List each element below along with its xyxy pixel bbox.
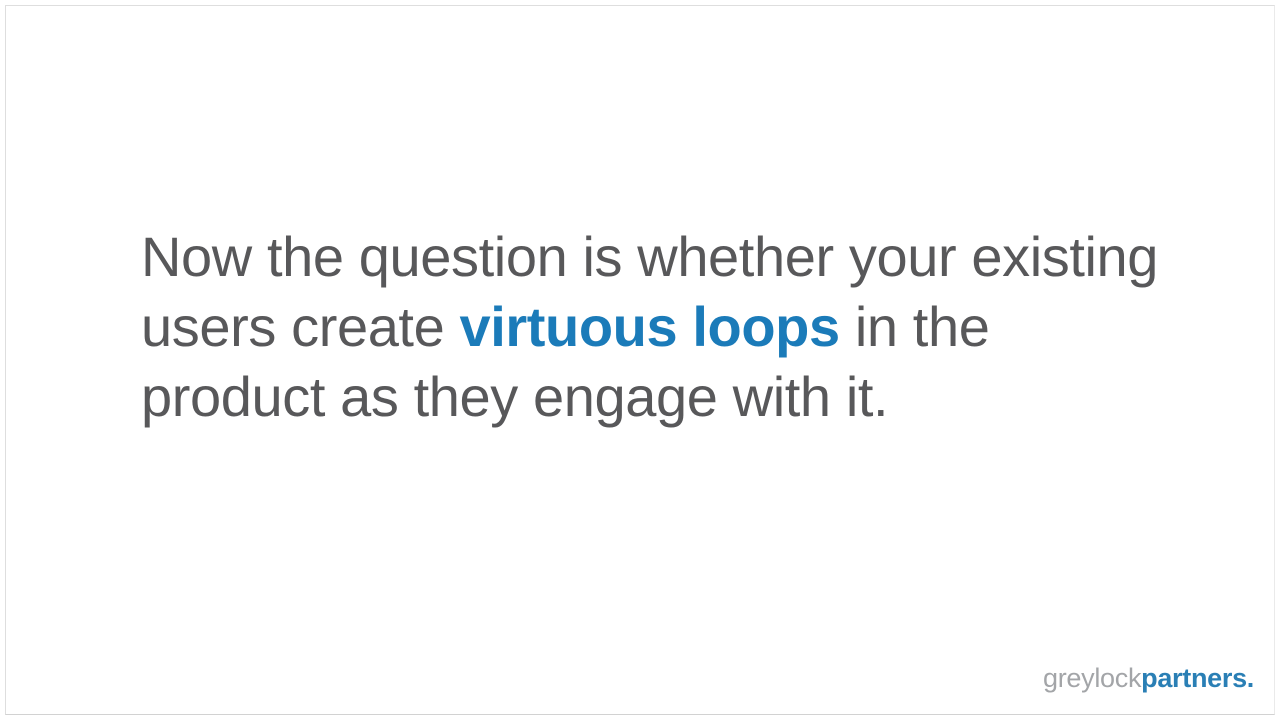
slide-headline: Now the question is whether your existin… <box>141 222 1171 432</box>
greylock-partners-logo: greylockpartners. <box>1043 661 1254 695</box>
logo-word-partners: partners. <box>1141 663 1254 693</box>
headline-highlight: virtuous loops <box>460 295 840 358</box>
presentation-slide: Now the question is whether your existin… <box>0 0 1280 720</box>
logo-word-greylock: greylock <box>1043 663 1141 693</box>
